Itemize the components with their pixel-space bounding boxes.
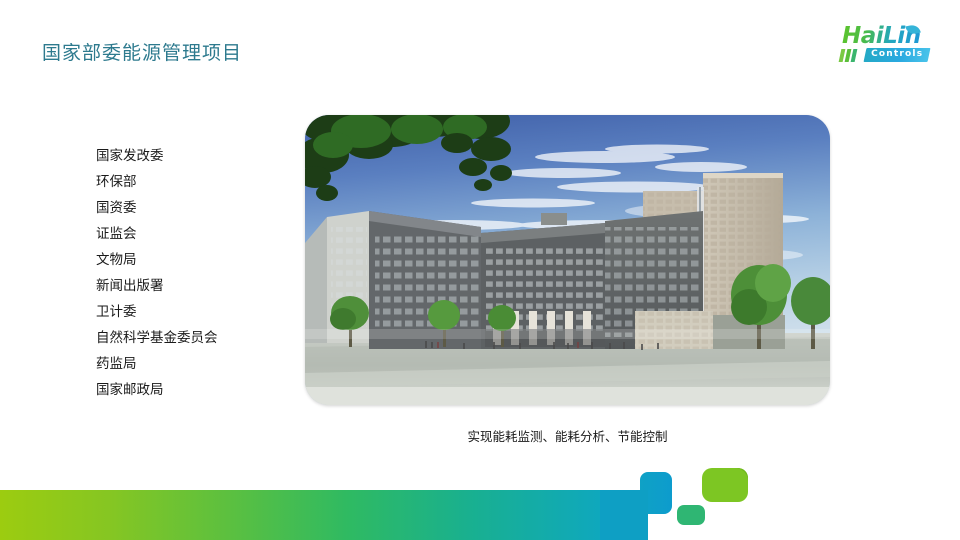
list-item: 自然科学基金委员会 [96,325,296,351]
signal-bars-icon [840,49,862,62]
list-item: 证监会 [96,221,296,247]
list-item: 卫计委 [96,299,296,325]
leaf-icon-large [702,468,748,502]
footer-gradient-bar [0,490,600,540]
photo-caption: 实现能耗监测、能耗分析、节能控制 [305,427,830,447]
logo-subtitle: Controls [871,49,923,60]
footer-shapes [0,460,960,540]
list-item: 文物局 [96,247,296,273]
list-item: 国家邮政局 [96,377,296,403]
logo-subtitle-bar: Controls [864,48,931,62]
slide-root: 国家部委能源管理项目 HaiLin Controls 国家发改委 环保部 国资委… [0,0,960,540]
list-item: 国家发改委 [96,143,296,169]
list-item: 国资委 [96,195,296,221]
building-rendering-photo [305,115,830,405]
footer-decoration [0,460,960,540]
list-item: 药监局 [96,351,296,377]
agency-list: 国家发改委 环保部 国资委 证监会 文物局 新闻出版署 卫计委 自然科学基金委员… [96,143,296,403]
building-rendering-illustration [305,115,830,405]
leaf-icon-small [677,505,705,525]
page-title: 国家部委能源管理项目 [42,40,242,66]
hailin-controls-logo: HaiLin Controls [832,26,944,68]
list-item: 环保部 [96,169,296,195]
list-item: 新闻出版署 [96,273,296,299]
